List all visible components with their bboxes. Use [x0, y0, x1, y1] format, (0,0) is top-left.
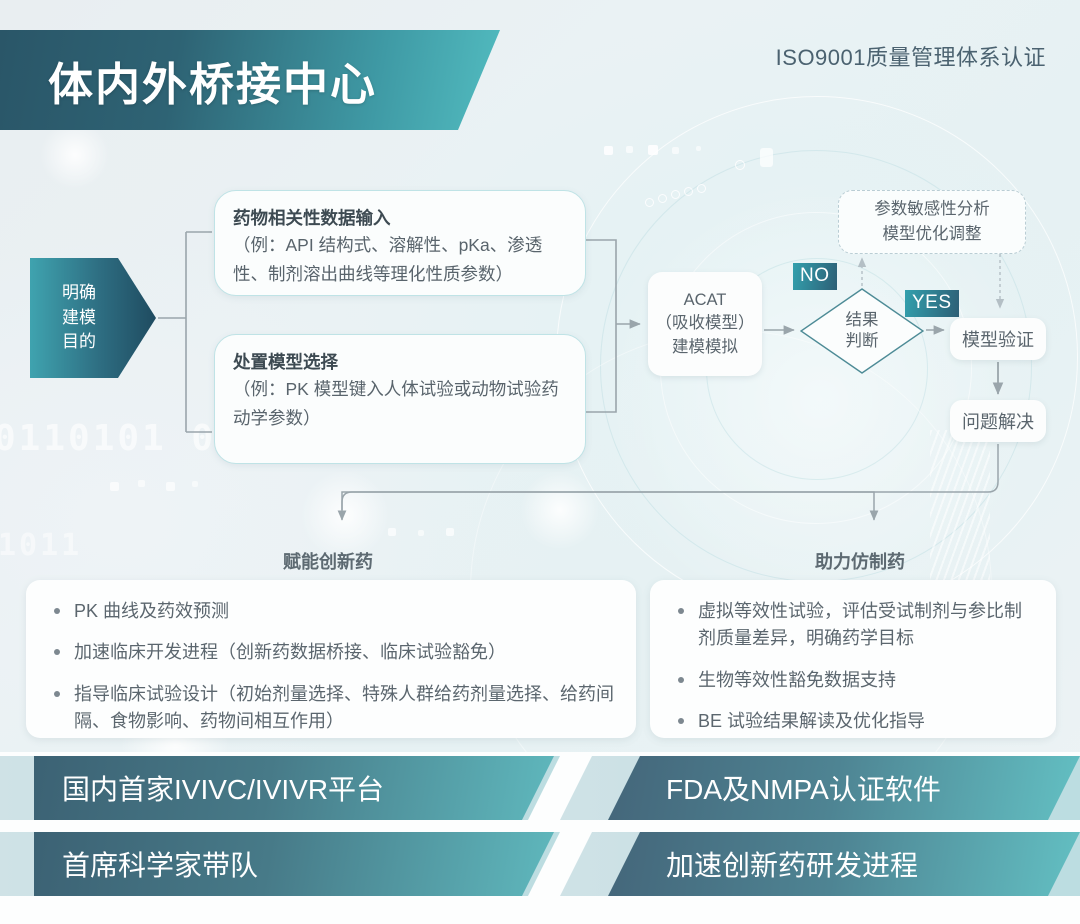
decision-line-2: 判断 — [846, 331, 879, 352]
certification-label: ISO9001质量管理体系认证 — [776, 40, 1046, 72]
decor-glow-2 — [300, 470, 390, 560]
decor-dot — [760, 148, 773, 167]
list-item: 加速临床开发进程（创新药数据桥接、临床试验豁免） — [48, 639, 614, 666]
footer-bar-ivivc[interactable]: 国内首家IVIVC/IVIVR平台 — [34, 756, 554, 820]
input-card-title: 药物相关性数据输入 — [233, 205, 567, 231]
problem-solved-node[interactable]: 问题解决 — [950, 400, 1046, 442]
benefits-list-generic: 虚拟等效性试验，评估受试制剂与参比制剂质量差异，明确药学目标 生物等效性豁免数据… — [650, 580, 1056, 738]
decor-ring-dot — [658, 194, 667, 203]
list-item: 指导临床试验设计（初始剂量选择、特殊人群给药剂量选择、给药间隔、食物影响、药物间… — [48, 681, 614, 736]
decor-ring-dot — [735, 160, 745, 170]
decor-ring-dot — [697, 184, 706, 193]
decor-dot — [672, 147, 679, 154]
list-item: 生物等效性豁免数据支持 — [672, 667, 1034, 694]
decor-ring-dot — [645, 198, 654, 207]
decor-dot — [418, 530, 424, 536]
branch-label-innovative: 赋能创新药 — [283, 548, 373, 574]
input-card-body: （例：PK 模型键入人体试验或动物试验药动学参数） — [233, 375, 567, 432]
input-card-disposition-model[interactable]: 处置模型选择 （例：PK 模型键入人体试验或动物试验药动学参数） — [214, 334, 586, 464]
decor-glow-3 — [520, 470, 600, 550]
footer-bar-chief-scientist[interactable]: 首席科学家带队 — [34, 832, 554, 896]
edge-label-no: NO — [793, 263, 837, 290]
input-card-title: 处置模型选择 — [233, 349, 567, 375]
decor-dot — [110, 482, 119, 491]
edge-label-yes: YES — [905, 290, 959, 317]
sensitivity-line-2: 模型优化调整 — [883, 222, 982, 247]
footer-bar-label: 首席科学家带队 — [62, 844, 258, 884]
list-item: PK 曲线及药效预测 — [48, 598, 614, 625]
acat-line-1: ACAT — [684, 289, 727, 312]
decor-dot — [626, 146, 633, 153]
decision-line-1: 结果 — [846, 310, 879, 331]
decor-dot — [648, 145, 658, 155]
decor-dot — [388, 528, 396, 536]
sensitivity-analysis-node[interactable]: 参数敏感性分析 模型优化调整 — [838, 190, 1026, 254]
footer-bar-fda[interactable]: FDA及NMPA认证软件 — [608, 756, 1080, 820]
decor-glow-1 — [40, 120, 110, 190]
sensitivity-line-1: 参数敏感性分析 — [874, 197, 990, 222]
list-item: BE 试验结果解读及优化指导 — [672, 708, 1034, 735]
decor-dot — [192, 481, 198, 487]
decor-ring-dot — [684, 187, 693, 196]
footer-bar-accelerate[interactable]: 加速创新药研发进程 — [608, 832, 1080, 896]
header-title-banner: 体内外桥接中心 — [0, 30, 500, 130]
acat-line-3: 建模模拟 — [672, 336, 738, 359]
acat-line-2: （吸收模型） — [656, 312, 755, 335]
footer-bar-label: 国内首家IVIVC/IVIVR平台 — [62, 768, 384, 808]
infographic-canvas: 0110101 0110 1011 体内外桥接中心 ISO9001质量管理体系认… — [0, 0, 1080, 924]
input-card-drug-data[interactable]: 药物相关性数据输入 （例：API 结构式、溶解性、pKa、渗透性、制剂溶出曲线等… — [214, 190, 586, 296]
decor-dot — [604, 146, 613, 155]
decor-dot — [138, 480, 145, 487]
list-item: 虚拟等效性试验，评估受试制剂与参比制剂质量差异，明确药学目标 — [672, 598, 1034, 653]
decor-dot — [446, 528, 454, 536]
footer-bar-label: 加速创新药研发进程 — [666, 844, 918, 884]
branch-label-generic: 助力仿制药 — [815, 548, 905, 574]
decor-dot — [166, 482, 175, 491]
start-badge-line-2: 建模 — [62, 308, 96, 327]
binary-watermark-2: 1011 — [0, 528, 82, 563]
model-validation-node[interactable]: 模型验证 — [950, 318, 1046, 360]
page-title: 体内外桥接中心 — [48, 48, 377, 113]
decor-ring-dot — [671, 190, 680, 199]
acat-model-node[interactable]: ACAT （吸收模型） 建模模拟 — [648, 272, 762, 376]
start-badge-line-1: 明确 — [62, 283, 96, 302]
input-card-body: （例：API 结构式、溶解性、pKa、渗透性、制剂溶出曲线等理化性质参数） — [233, 231, 567, 288]
footer-bar-label: FDA及NMPA认证软件 — [666, 768, 941, 808]
benefits-list-innovative: PK 曲线及药效预测 加速临床开发进程（创新药数据桥接、临床试验豁免） 指导临床… — [26, 580, 636, 738]
decor-dot — [696, 146, 701, 151]
start-badge-line-3: 目的 — [62, 332, 96, 351]
